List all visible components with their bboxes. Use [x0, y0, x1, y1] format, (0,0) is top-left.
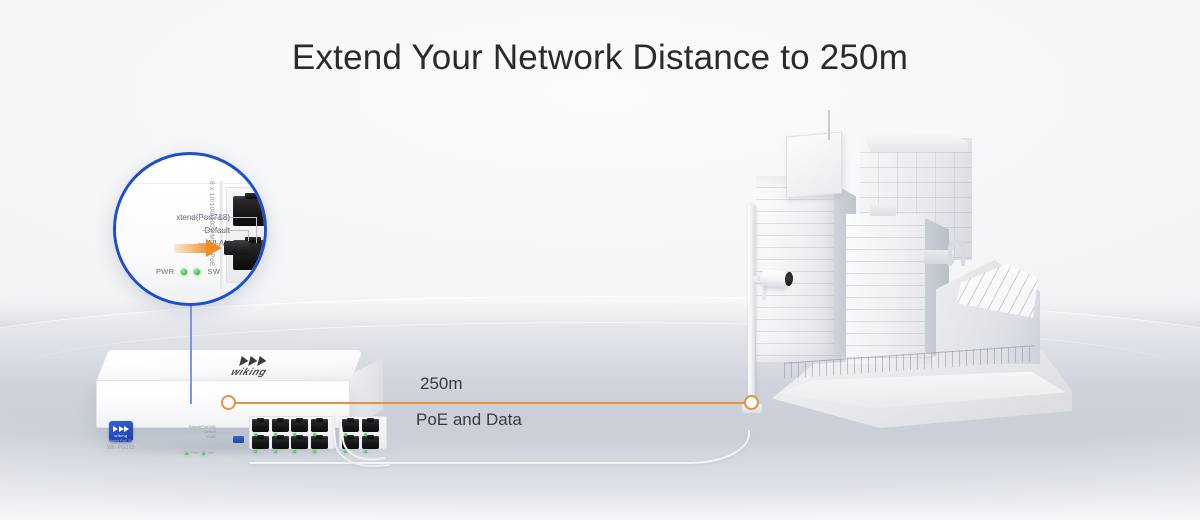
port-status-led-icon — [274, 450, 277, 453]
camera-mounting-pole — [748, 205, 755, 411]
city-building-block — [742, 118, 1082, 430]
poe-port[interactable] — [252, 436, 269, 449]
infographic-scene: Extend Your Network Distance to 250m — [0, 0, 1200, 520]
poe-link-line — [228, 402, 756, 404]
rooftop-equipment-box — [870, 204, 896, 216]
building-mid-block — [846, 214, 932, 364]
poe-port[interactable] — [272, 436, 289, 449]
poe-port[interactable] — [311, 436, 328, 449]
callout-power-led-label: PWR — [156, 267, 174, 276]
callout-port-number: 1 — [259, 265, 263, 272]
mode-selector-slider[interactable] — [233, 436, 244, 443]
callout-led-group: PWR SW — [156, 267, 220, 276]
power-led-label: PWR — [191, 451, 199, 455]
mode-switch-labels: Extend(Port7&8) Default VLAN — [189, 425, 216, 440]
poe-port[interactable] — [291, 419, 308, 432]
poe-switch-device: wiking wiking Gigabit PoE Switch WK-PG21… — [96, 350, 382, 445]
power-led-icon — [185, 452, 188, 455]
badge-chevron-icon — [113, 426, 129, 432]
callout-leader-line-default — [202, 230, 248, 231]
poe-port-row-bottom — [250, 434, 334, 451]
port-status-led-icon — [293, 450, 296, 453]
callout-leader-line-extend — [190, 217, 256, 218]
link-distance-label: 250m — [420, 374, 580, 394]
sw-led-label: SW — [208, 451, 213, 455]
poe-port[interactable] — [291, 436, 308, 449]
callout-power-led-icon — [181, 269, 187, 275]
callout-sw-led-icon — [194, 269, 200, 275]
callout-port-upper[interactable] — [233, 196, 267, 226]
rooftop-vent-pipe — [948, 240, 965, 266]
badge-label: wiking — [115, 433, 128, 438]
building-rear-roof — [864, 130, 968, 152]
switch-model-label: WK-PG213 — [107, 445, 135, 451]
poe-port[interactable] — [272, 419, 289, 432]
port-status-led-icon — [254, 450, 257, 453]
poe-port[interactable] — [252, 419, 269, 432]
poe-port-bank — [249, 416, 335, 449]
rooftop-antenna-mast — [828, 110, 830, 140]
callout-mode-slider[interactable] — [224, 241, 250, 255]
link-endpoint-camera — [744, 395, 759, 410]
callout-sw-led-label: SW — [207, 267, 220, 276]
callout-highlight-arrow-icon — [174, 239, 224, 257]
brand-wordmark: wiking — [229, 367, 268, 378]
sw-led-icon — [202, 452, 205, 455]
page-title: Extend Your Network Distance to 250m — [0, 38, 1200, 78]
rooftop-billboard — [786, 132, 842, 199]
callout-leader-vertical-extend — [256, 217, 257, 243]
link-endpoint-switch — [221, 395, 236, 410]
poe-port[interactable] — [311, 419, 328, 432]
switch-top-logo: wiking — [209, 355, 293, 379]
port-status-led-icon — [313, 450, 316, 453]
poe-port-row-top — [250, 417, 334, 434]
switch-sublabel: Gigabit PoE Switch — [107, 439, 140, 443]
link-type-label: PoE and Data — [416, 410, 636, 430]
chevron-logo-icon — [238, 356, 268, 366]
magnifier-callout: 8 x 10/100/1000 Mbps PoE xtend(Port7&8) … — [113, 152, 267, 306]
system-led-group: PWR SW — [185, 451, 213, 455]
mode-label-vlan: VLAN — [189, 435, 216, 440]
